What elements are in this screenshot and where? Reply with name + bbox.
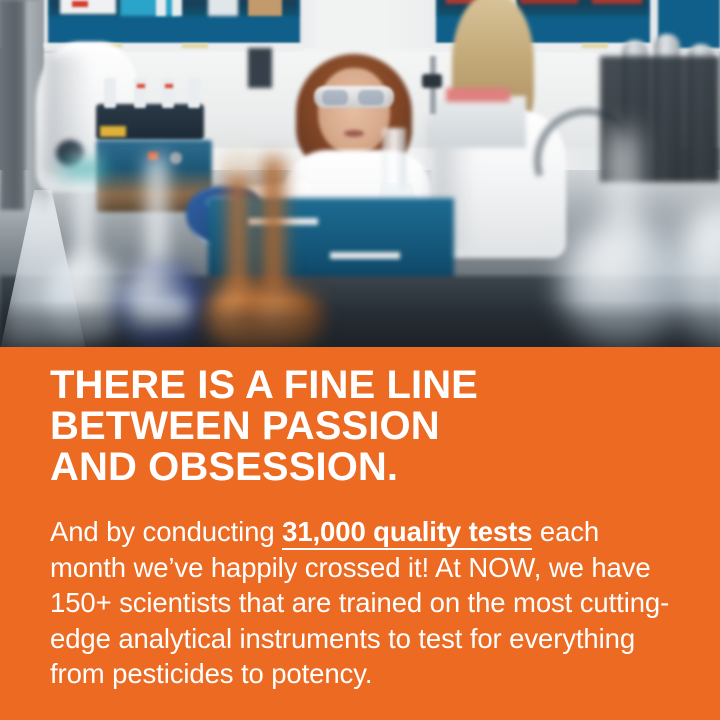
goggles-lens-left <box>322 90 348 105</box>
cabinet-carton-tan <box>248 0 282 16</box>
cabinet-jar-clear <box>208 0 238 16</box>
bench-unit-right <box>430 96 526 148</box>
foreground-flask-left-band-teal <box>62 162 106 176</box>
amber-flask-neck-1 <box>228 166 248 296</box>
scientist-mouth <box>344 130 364 137</box>
wall-outlet-dark <box>248 48 272 88</box>
erlenmeyer-neck <box>382 128 406 190</box>
foreground-flask-right-neck <box>608 132 638 242</box>
cabinet-bottle-white <box>60 0 116 14</box>
drawer-handle-2 <box>330 252 400 259</box>
goggles-lens-right <box>358 90 384 105</box>
tube-rack-label-yellow <box>100 126 126 137</box>
body-copy-part1: And by conducting <box>50 516 282 547</box>
scientist-face <box>318 68 390 154</box>
ad-card: THERE IS A FINE LINE BETWEEN PASSION AND… <box>0 0 720 720</box>
cabinet-right-handle <box>582 44 608 48</box>
cabinet-left-handle-2 <box>182 44 208 48</box>
tube-rack-tube-1 <box>104 78 116 108</box>
headline-line-3: AND OBSESSION. <box>50 447 680 488</box>
instrument-knob <box>170 152 182 164</box>
cabinet-label-red <box>72 1 88 7</box>
cabinet-tube-b <box>172 0 182 16</box>
body-copy: And by conducting 31,000 quality tests e… <box>50 514 670 692</box>
cabinet-red-tray-b <box>520 0 578 4</box>
page-title: THERE IS A FINE LINE BETWEEN PASSION AND… <box>50 365 680 488</box>
tube-rack-tube-4 <box>188 78 200 108</box>
clamp-dark <box>422 74 442 88</box>
tube-rack-tube-3 <box>162 78 174 108</box>
cabinet-tube-a <box>156 0 166 16</box>
tube-cap-red-1 <box>137 84 145 88</box>
headline-line-2: BETWEEN PASSION <box>50 406 680 447</box>
photo-bottom-shadow <box>0 300 720 347</box>
cabinet-red-tray-c <box>592 0 642 4</box>
door-frame-left <box>0 0 26 210</box>
tube-rack-tube-2 <box>134 78 146 108</box>
bench-pink-strip <box>446 88 510 102</box>
wall-column-center <box>316 0 390 56</box>
amber-flask-stopper <box>224 150 252 172</box>
lab-photo <box>0 0 720 347</box>
headline-line-1: THERE IS A FINE LINE <box>50 365 680 406</box>
amber-flask-neck-2 <box>262 158 284 296</box>
orange-message-panel: THERE IS A FINE LINE BETWEEN PASSION AND… <box>0 347 720 720</box>
cabinet-box-cyan <box>120 0 178 16</box>
tube-cap-red-2 <box>165 84 173 88</box>
body-copy-emphasis: 31,000 quality tests <box>282 516 532 550</box>
